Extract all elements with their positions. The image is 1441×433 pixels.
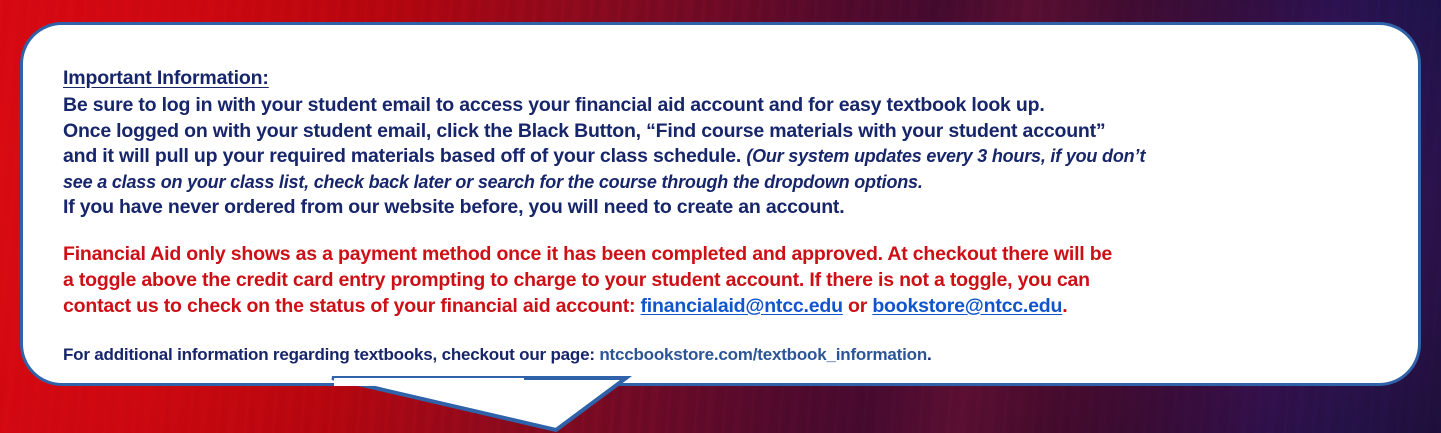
red-period: . [1062, 295, 1067, 317]
footer-prefix: For additional information regarding tex… [63, 345, 599, 364]
callout-tail-seam-cover [334, 378, 524, 386]
red-line-3: contact us to check on the status of you… [63, 293, 1384, 319]
navy-line-3-italic: (Our system updates every 3 hours, if yo… [746, 146, 1145, 166]
navy-line-1: Be sure to log in with your student emai… [63, 93, 1384, 119]
callout-content: Important Information: Be sure to log in… [63, 65, 1384, 367]
navy-line-5: If you have never ordered from our websi… [63, 195, 1384, 221]
red-line-3-text: contact us to check on the status of you… [63, 295, 635, 317]
navy-instructions-paragraph: Be sure to log in with your student emai… [63, 93, 1384, 221]
navy-line-3: and it will pull up your required materi… [63, 144, 1384, 170]
red-line-1: Financial Aid only shows as a payment me… [63, 241, 1384, 267]
financial-aid-paragraph: Financial Aid only shows as a payment me… [63, 241, 1384, 319]
navy-line-3-plain: and it will pull up your required materi… [63, 145, 741, 167]
red-conjunction: or [843, 295, 873, 317]
callout-heading: Important Information: [63, 65, 1384, 92]
financial-aid-email-link[interactable]: financialaid@ntcc.edu [641, 295, 843, 317]
footer-suffix: . [927, 345, 932, 364]
footer-paragraph: For additional information regarding tex… [63, 343, 1384, 367]
banner-callout-image: Important Information: Be sure to log in… [0, 0, 1441, 433]
textbook-information-site-link[interactable]: ntccbookstore.com/textbook_information [599, 345, 927, 364]
information-callout-bubble: Important Information: Be sure to log in… [20, 22, 1421, 386]
navy-line-2: Once logged on with your student email, … [63, 119, 1384, 145]
bookstore-email-link[interactable]: bookstore@ntcc.edu [872, 295, 1062, 317]
red-line-2: a toggle above the credit card entry pro… [63, 267, 1384, 293]
navy-line-4-italic: see a class on your class list, check ba… [63, 170, 1384, 196]
